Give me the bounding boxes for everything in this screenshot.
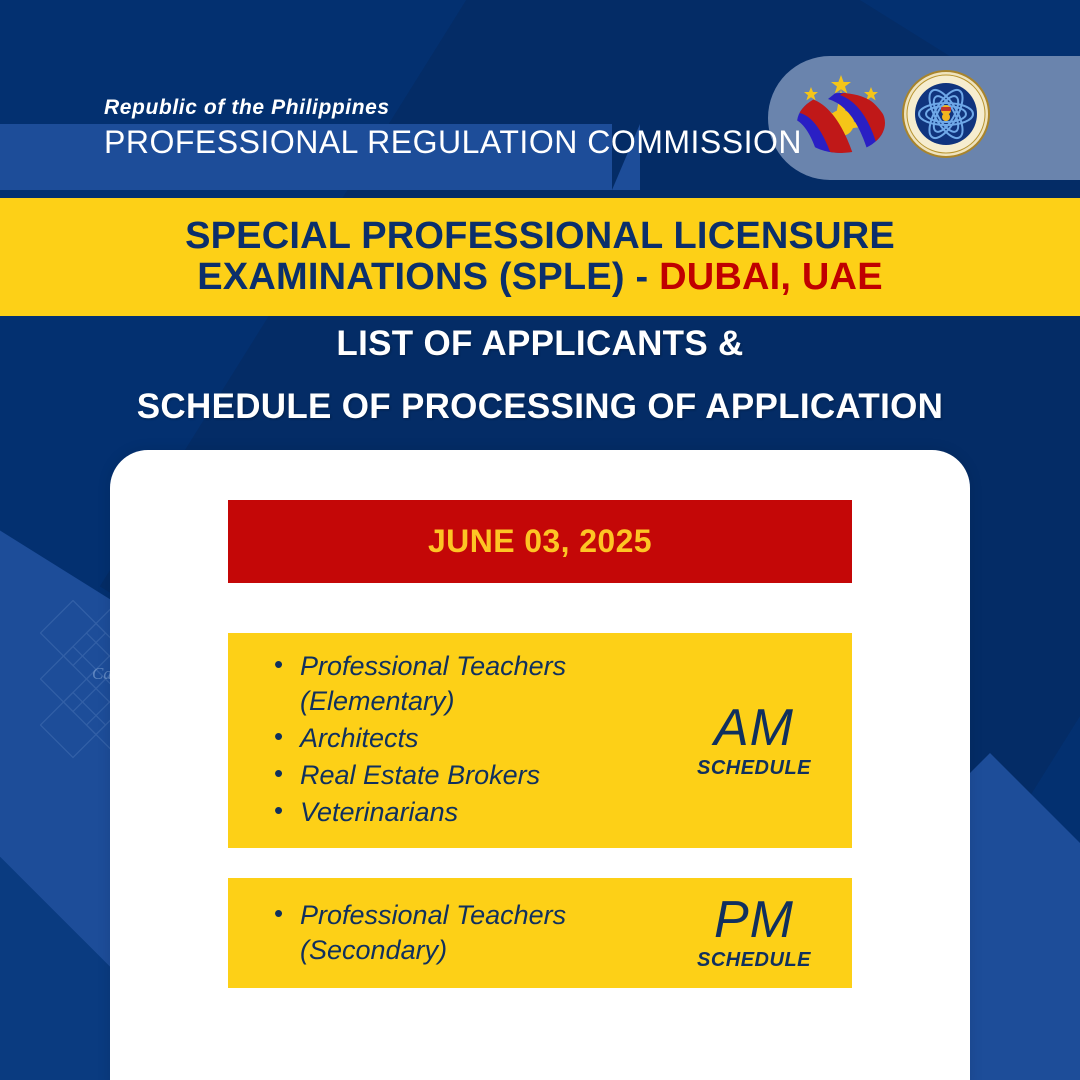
list-item: Veterinarians xyxy=(272,795,656,830)
schedule-pm-tag: PM SCHEDULE xyxy=(656,894,852,972)
prc-atom-seal-logo-icon: . xyxy=(902,70,990,158)
svg-text:.: . xyxy=(902,70,903,71)
schedule-am-tag: AM SCHEDULE xyxy=(656,702,852,780)
schedule-block-pm: Professional Teachers (Secondary) PM SCH… xyxy=(228,878,852,988)
philippine-sun-flag-logo-icon xyxy=(794,71,888,157)
content-card: JUNE 03, 2025 Professional Teachers (Ele… xyxy=(110,450,970,1080)
title-banner: SPECIAL PROFESSIONAL LICENSURE EXAMINATI… xyxy=(0,198,1080,316)
subtitle-block: LIST OF APPLICANTS & SCHEDULE OF PROCESS… xyxy=(0,326,1080,424)
list-item: Professional Teachers (Secondary) xyxy=(272,898,656,968)
schedule-pm-tag-label: SCHEDULE xyxy=(656,949,852,972)
schedule-block-am: Professional Teachers (Elementary) Archi… xyxy=(228,633,852,848)
schedule-pm-tag-big: PM xyxy=(656,894,852,946)
poster-root: Ca xyxy=(0,0,1080,1080)
subtitle-line-1: LIST OF APPLICANTS & xyxy=(0,326,1080,361)
title-line-2-prefix: EXAMINATIONS (SPLE) - xyxy=(197,256,659,298)
schedule-am-tag-big: AM xyxy=(656,702,852,754)
schedule-am-tag-label: SCHEDULE xyxy=(656,757,852,780)
title-line-1: SPECIAL PROFESSIONAL LICENSURE xyxy=(185,216,895,257)
title-line-2-accent: DUBAI, UAE xyxy=(659,256,883,298)
date-banner: JUNE 03, 2025 xyxy=(228,500,852,583)
title-line-2: EXAMINATIONS (SPLE) - DUBAI, UAE xyxy=(197,257,883,298)
subtitle-line-2: SCHEDULE OF PROCESSING OF APPLICATION xyxy=(0,389,1080,424)
schedule-am-list: Professional Teachers (Elementary) Archi… xyxy=(228,649,656,832)
header-title: PROFESSIONAL REGULATION COMMISSION xyxy=(104,124,802,161)
header-text-block: Republic of the Philippines PROFESSIONAL… xyxy=(104,96,802,161)
list-item: Professional Teachers (Elementary) xyxy=(272,649,656,719)
background-watermark-text: Ca xyxy=(92,664,112,684)
list-item: Architects xyxy=(272,721,656,756)
logo-group: . xyxy=(794,70,990,158)
poster-header: . Republic of the Philippines PROFESSION… xyxy=(0,0,1080,198)
list-item: Real Estate Brokers xyxy=(272,758,656,793)
header-subtitle: Republic of the Philippines xyxy=(104,96,802,120)
date-label: JUNE 03, 2025 xyxy=(428,523,652,560)
schedule-pm-list: Professional Teachers (Secondary) xyxy=(228,898,656,968)
